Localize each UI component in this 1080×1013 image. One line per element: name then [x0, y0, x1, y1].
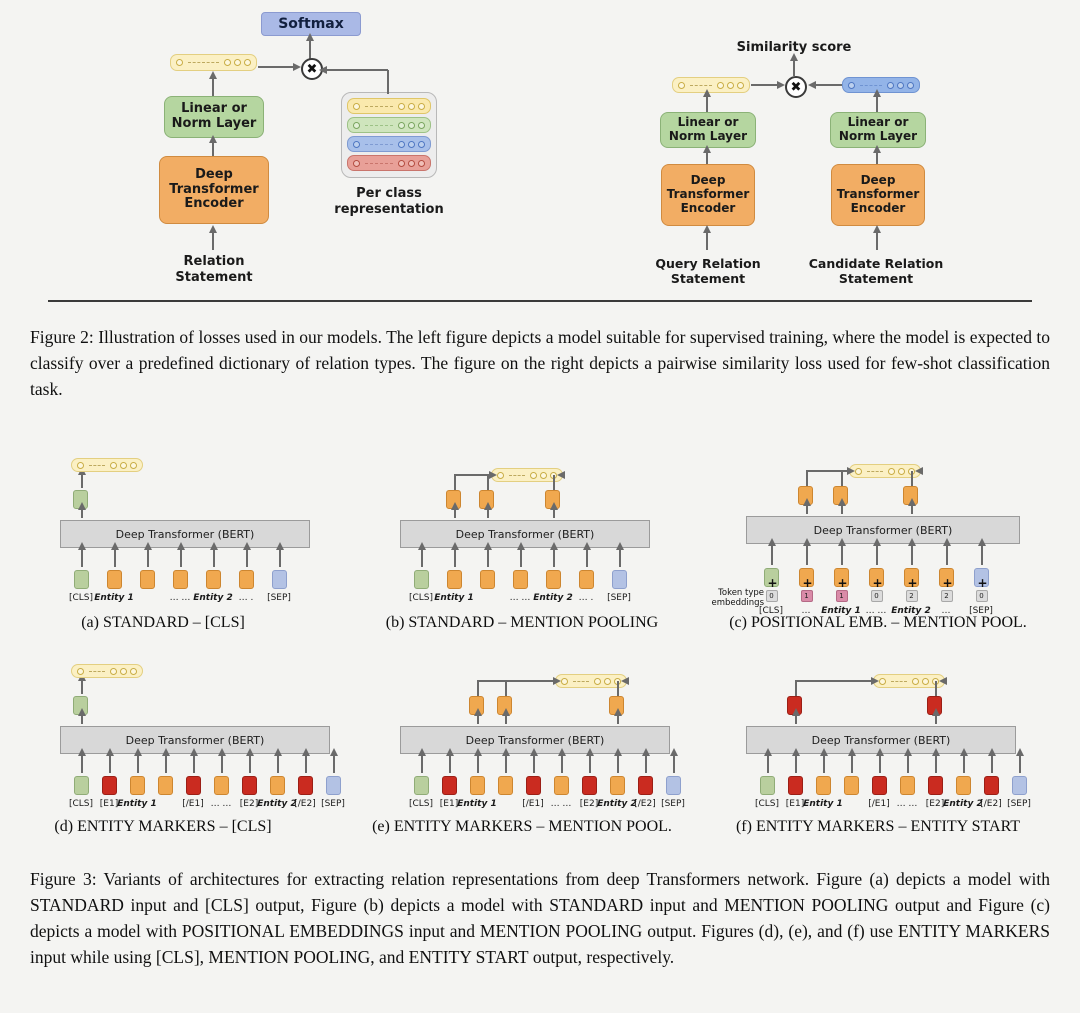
token-label: Entity 1 — [457, 799, 497, 809]
plus-icon: + — [978, 577, 988, 589]
arrow-cls-to-vector — [81, 680, 83, 694]
token-label: … … — [897, 799, 918, 809]
input-token-cls — [74, 570, 89, 589]
panel-letter: (b) — [386, 614, 409, 631]
arrow-token-to-transformer — [137, 755, 139, 773]
token-label: [SEP] — [321, 799, 345, 809]
arrow-token-to-transformer — [851, 755, 853, 773]
arrow-token-to-transformer — [907, 755, 909, 773]
candidate-relation-vector — [842, 77, 920, 93]
token-label: Entity 1 — [803, 799, 843, 809]
per-class-representation-label: Per class representation — [323, 186, 455, 217]
token-label: … … — [510, 593, 531, 603]
input-token-entity1 — [816, 776, 831, 795]
vector-ellipsis — [867, 471, 883, 472]
input-token-e2 — [298, 776, 313, 795]
token-label: [E1] — [440, 799, 458, 809]
token-type-value: 1 — [836, 590, 848, 602]
class-dot — [398, 103, 405, 110]
vector-ellipsis — [509, 475, 525, 476]
class-row-red — [347, 155, 431, 171]
encoder-label: Deep Transformer Encoder — [169, 168, 258, 213]
deep-transformer-block: Deep Transformer (BERT) — [60, 520, 310, 548]
arrow-transformer-to-output-token — [477, 715, 479, 724]
input-token-entity2 — [546, 570, 561, 589]
candidate-relation-statement-label: Candidate Relation Statement — [796, 256, 956, 286]
vector-ellipsis — [891, 681, 907, 682]
caption-text: , and — [370, 947, 408, 967]
connector-output-riser — [795, 681, 797, 696]
class-dot — [398, 141, 405, 148]
vector-cell-dot — [110, 668, 117, 675]
vector-ellipsis — [690, 85, 712, 86]
connector-output-riser-right — [935, 681, 937, 696]
arrow-query-linear-to-vector — [706, 96, 708, 112]
arrow-linear-to-vector — [212, 78, 214, 98]
connector-output-riser — [841, 471, 843, 486]
class-dot — [418, 103, 425, 110]
vector-ellipsis — [89, 671, 105, 672]
vector-cell-dot — [727, 82, 734, 89]
panel-subcaption-b: (b) STANDARD – MENTION POOLING — [372, 614, 672, 632]
relation-representation-vector — [71, 458, 143, 472]
arrow-token-to-transformer — [147, 549, 149, 567]
arrow-token-to-transformer — [619, 549, 621, 567]
input-token-cls — [760, 776, 775, 795]
deep-transformer-encoder-query: Deep Transformer Encoder — [661, 164, 755, 226]
arrow-token-to-transformer — [277, 755, 279, 773]
class-dot — [418, 160, 425, 167]
input-token-entity2 — [956, 776, 971, 795]
figure-2-rule — [48, 300, 1032, 302]
vector-cell-dot — [540, 472, 547, 479]
vector-cell-dot — [922, 678, 929, 685]
arrow-op-to-similarity — [793, 60, 795, 76]
class-row-ellipsis — [365, 106, 393, 107]
panel-variant-name: ENTITY MARKERS – MENTION POOL. — [394, 818, 672, 835]
panel-letter: (a) — [81, 614, 103, 631]
caption-text: input and [CLS] output, Figure (b) depic… — [124, 895, 549, 915]
token-label: … . — [579, 593, 594, 603]
arrow-token-to-transformer — [589, 755, 591, 773]
arrow-token-to-transformer — [449, 755, 451, 773]
input-token-e2 — [582, 776, 597, 795]
linear-norm-layer-candidate: Linear or Norm Layer — [830, 112, 926, 148]
token-label: Entity 2 — [533, 593, 573, 603]
vector-cell-dot — [737, 82, 744, 89]
connector-output-riser — [477, 681, 479, 696]
connector-output-riser — [806, 471, 808, 486]
input-token-e1 — [102, 776, 117, 795]
arrow-transformer-to-output-token — [841, 505, 843, 514]
figure-3-caption: Figure 3: Variants of architectures for … — [30, 866, 1050, 970]
input-token-entity1 — [107, 570, 122, 589]
arrow-token-to-transformer — [533, 755, 535, 773]
token-label: [CLS] — [755, 799, 779, 809]
caption-smallcaps: ENTITY START — [409, 947, 529, 967]
input-token-entity2 — [270, 776, 285, 795]
token-label: Entity 1 — [117, 799, 157, 809]
vector-cell-dot — [224, 59, 231, 66]
arrow-token-to-transformer — [645, 755, 647, 773]
vector-cell-dot — [887, 82, 894, 89]
input-token-entity2 — [610, 776, 625, 795]
class-row-ellipsis — [365, 144, 393, 145]
connector-classbox-horizontal — [327, 69, 388, 71]
arrow-token-to-transformer — [911, 545, 913, 565]
per-class-representation-box — [341, 92, 437, 178]
caption-smallcaps: MENTION POOLING — [208, 947, 370, 967]
vector-cell-dot — [120, 462, 127, 469]
vector-cell-dot — [888, 468, 895, 475]
plus-icon: + — [768, 577, 778, 589]
vector-cell-dot — [110, 462, 117, 469]
input-token-cls — [74, 776, 89, 795]
token-label: [SEP] — [607, 593, 631, 603]
input-token-tok5 — [579, 570, 594, 589]
class-dot — [408, 103, 415, 110]
paper-figure-page: Softmax ✖ Linear or Norm Layer Deep — [0, 0, 1080, 1013]
input-token-sep — [272, 570, 287, 589]
input-token-e1 — [186, 776, 201, 795]
class-row-ellipsis — [365, 163, 393, 164]
arrow-token-to-transformer — [305, 755, 307, 773]
panel-variant-name: STANDARD – MENTION POOLING — [408, 614, 658, 631]
input-token-sep — [612, 570, 627, 589]
arrow-transformer-to-cls — [81, 509, 83, 518]
figure-2-caption: Figure 2: Illustration of losses used in… — [30, 324, 1050, 402]
arrow-token-to-transformer — [487, 549, 489, 567]
caption-text: output, respectively. — [529, 947, 675, 967]
arrow-token-to-transformer — [586, 549, 588, 567]
arrow-token-to-transformer — [806, 545, 808, 565]
input-token-tok5 — [239, 570, 254, 589]
class-dot — [353, 141, 360, 148]
vector-cell-dot — [594, 678, 601, 685]
arrow-token-to-transformer — [991, 755, 993, 773]
deep-transformer-encoder-left: Deep Transformer Encoder — [159, 156, 269, 224]
arrow-transformer-to-output-token — [806, 505, 808, 514]
caption-text: Figure 3: Variants of architectures for … — [30, 869, 1050, 889]
token-label: Entity 2 — [257, 799, 297, 809]
panel-variant-name: STANDARD – [CLS] — [103, 614, 245, 631]
token-label: [E1] — [100, 799, 118, 809]
connector-query-to-operator — [751, 84, 777, 86]
input-token-tok5 — [900, 776, 915, 795]
arrow-candidate-input-to-encoder — [876, 232, 878, 250]
caption-smallcaps: MENTION POOLING — [480, 921, 642, 941]
arrow-token-to-transformer — [841, 545, 843, 565]
arrow-transformer-to-output-token — [935, 715, 937, 724]
relation-statement-input-label: Relation Statement — [152, 254, 276, 285]
class-dot — [408, 141, 415, 148]
arrow-token-to-transformer — [454, 549, 456, 567]
caption-text: input and — [404, 921, 480, 941]
arrow-token-to-transformer — [553, 549, 555, 567]
relation-representation-vector — [71, 664, 143, 678]
connector-left-group-to-pill — [806, 470, 847, 472]
class-row-yellow — [347, 98, 431, 114]
token-label: [/E2] — [980, 799, 1001, 809]
input-token-cls — [414, 570, 429, 589]
input-token-tok3 — [844, 776, 859, 795]
connector-classbox-vertical — [387, 70, 389, 94]
token-label: [/E1] — [522, 799, 543, 809]
class-dot — [353, 160, 360, 167]
vector-cell-dot — [77, 668, 84, 675]
vector-cell-dot — [561, 678, 568, 685]
panel-subcaption-e: (e) ENTITY MARKERS – MENTION POOL. — [372, 818, 672, 836]
arrow-token-to-transformer — [876, 545, 878, 565]
linear-layer-label: Linear or Norm Layer — [669, 116, 747, 144]
vector-cell-dot — [497, 472, 504, 479]
caption-smallcaps: ENTITY MARKERS — [898, 921, 1050, 941]
vector-cell-dot — [234, 59, 241, 66]
plus-icon: + — [943, 577, 953, 589]
vector-cell-dot — [898, 468, 905, 475]
encoder-label: Deep Transformer Encoder — [837, 174, 920, 215]
vector-cell-dot — [130, 668, 137, 675]
token-label: Entity 2 — [943, 799, 983, 809]
token-label: [SEP] — [1007, 799, 1031, 809]
token-label: [E2] — [926, 799, 944, 809]
arrow-token-to-transformer — [279, 549, 281, 567]
input-token-e2 — [984, 776, 999, 795]
class-dot — [418, 141, 425, 148]
arrow-token-to-transformer — [477, 755, 479, 773]
token-label: … . — [239, 593, 254, 603]
connector-left-group-to-pill — [477, 680, 553, 682]
arrow-cls-to-vector — [81, 474, 83, 488]
input-token-e1 — [788, 776, 803, 795]
panel-subcaption-d: (d) ENTITY MARKERS – [CLS] — [32, 818, 294, 836]
token-type-value: 0 — [766, 590, 778, 602]
deep-transformer-encoder-candidate: Deep Transformer Encoder — [831, 164, 925, 226]
plus-icon: + — [838, 577, 848, 589]
vector-cell-dot — [244, 59, 251, 66]
token-label: [SEP] — [267, 593, 291, 603]
arrow-token-to-transformer — [981, 545, 983, 565]
panel-letter: (c) — [729, 614, 751, 631]
vector-cell-dot — [130, 462, 137, 469]
panel-subcaption-f: (f) ENTITY MARKERS – ENTITY START — [718, 818, 1038, 836]
query-relation-vector — [672, 77, 750, 93]
token-label: Entity 2 — [193, 593, 233, 603]
class-row-green — [347, 117, 431, 133]
token-type-value: 0 — [976, 590, 988, 602]
vector-cell-dot — [912, 678, 919, 685]
caption-smallcaps: STANDARD — [30, 895, 124, 915]
token-label: … … — [170, 593, 191, 603]
vector-cell-dot — [530, 472, 537, 479]
arrow-query-input-to-encoder — [706, 232, 708, 250]
arrow-token-to-transformer — [505, 755, 507, 773]
linear-norm-layer-left: Linear or Norm Layer — [164, 96, 264, 138]
connector-output-riser-right — [911, 471, 913, 486]
caption-smallcaps: POSITIONAL EMBEDDINGS — [182, 921, 404, 941]
token-label: [/E1] — [868, 799, 889, 809]
vector-ellipsis — [573, 681, 589, 682]
arrow-token-to-transformer — [673, 755, 675, 773]
input-token-entity1 — [130, 776, 145, 795]
input-token-e1 — [442, 776, 457, 795]
input-token-tok5 — [214, 776, 229, 795]
input-token-tok3 — [158, 776, 173, 795]
input-token-tok3 — [513, 570, 528, 589]
class-dot — [353, 122, 360, 129]
vector-ellipsis — [860, 85, 882, 86]
arrow-token-to-transformer — [213, 549, 215, 567]
token-label: [/E2] — [294, 799, 315, 809]
caption-smallcaps: MENTION POOLING — [724, 895, 888, 915]
vector-ellipsis — [188, 62, 219, 63]
arrow-token-to-transformer — [520, 549, 522, 567]
class-row-ellipsis — [365, 125, 393, 126]
panel-variant-name: POSITIONAL EMB. – MENTION POOL. — [751, 614, 1027, 631]
figure-2-illustration: Softmax ✖ Linear or Norm Layer Deep — [0, 0, 1080, 300]
arrow-token-to-transformer — [771, 545, 773, 565]
vector-cell-dot — [848, 82, 855, 89]
connector-output-riser — [505, 681, 507, 696]
class-dot — [398, 122, 405, 129]
token-label: [/E2] — [634, 799, 655, 809]
class-dot — [418, 122, 425, 129]
linear-norm-layer-query: Linear or Norm Layer — [660, 112, 756, 148]
arrow-transformer-to-output-token — [505, 715, 507, 724]
connector-vector-to-operator — [258, 66, 293, 68]
class-dot — [408, 122, 415, 129]
class-row-blue — [347, 136, 431, 152]
arrow-token-to-transformer — [165, 755, 167, 773]
panel-variant-name: ENTITY MARKERS – [CLS] — [77, 818, 272, 835]
connector-candidate-to-operator — [816, 84, 842, 86]
arrow-transformer-to-output-token — [487, 509, 489, 518]
plus-icon: + — [873, 577, 883, 589]
connector-output-riser — [454, 475, 456, 490]
vector-cell-dot — [897, 82, 904, 89]
panel-subcaption-c: (c) POSITIONAL EMB. – MENTION POOL. — [718, 614, 1038, 632]
vector-cell-dot — [907, 82, 914, 89]
panel-letter: (d) — [54, 818, 77, 835]
arrow-token-to-transformer — [617, 755, 619, 773]
linear-layer-label: Linear or Norm Layer — [172, 102, 257, 132]
arrow-token-to-transformer — [221, 755, 223, 773]
panel-variant-name: ENTITY MARKERS – ENTITY START — [756, 818, 1020, 835]
arrow-transformer-to-output-token — [911, 505, 913, 514]
connector-left-group-to-pill — [795, 680, 871, 682]
vector-cell-dot — [678, 82, 685, 89]
arrow-token-to-transformer — [561, 755, 563, 773]
vector-cell-dot — [717, 82, 724, 89]
token-label: Entity 2 — [597, 799, 637, 809]
vector-cell-dot — [120, 668, 127, 675]
vector-cell-dot — [604, 678, 611, 685]
deep-transformer-block: Deep Transformer (BERT) — [400, 520, 650, 548]
plus-icon: + — [803, 577, 813, 589]
arrow-token-to-transformer — [1019, 755, 1021, 773]
caption-smallcaps: STANDARD — [549, 895, 643, 915]
token-label: [E2] — [240, 799, 258, 809]
encoder-label: Deep Transformer Encoder — [667, 174, 750, 215]
arrow-transformer-to-output-token — [617, 715, 619, 724]
token-label: [/E1] — [182, 799, 203, 809]
arrow-transformer-to-output-token — [795, 715, 797, 724]
input-token-e2 — [638, 776, 653, 795]
input-token-tok3 — [173, 570, 188, 589]
token-label: Entity 1 — [434, 593, 474, 603]
arrow-token-to-transformer — [767, 755, 769, 773]
arrow-candidate-linear-to-vector — [876, 96, 878, 112]
token-label: … … — [551, 799, 572, 809]
class-dot — [353, 103, 360, 110]
connector-output-riser-right — [553, 475, 555, 490]
token-type-value: 0 — [871, 590, 883, 602]
arrow-token-to-transformer — [81, 755, 83, 773]
vector-cell-dot — [176, 59, 183, 66]
vector-cell-dot — [879, 678, 886, 685]
token-label: [CLS] — [409, 593, 433, 603]
arrow-token-to-transformer — [180, 549, 182, 567]
plus-icon: + — [908, 577, 918, 589]
vector-cell-dot — [855, 468, 862, 475]
token-type-embeddings-label: Token typeembeddings — [706, 588, 764, 608]
token-label: [CLS] — [409, 799, 433, 809]
arrow-transformer-to-output-token — [553, 509, 555, 518]
token-type-value: 2 — [941, 590, 953, 602]
input-token-e2 — [242, 776, 257, 795]
input-token-sep — [666, 776, 681, 795]
query-relation-statement-label: Query Relation Statement — [638, 256, 778, 286]
multiply-operator-right: ✖ — [785, 76, 807, 98]
relation-representation-vector — [170, 54, 257, 71]
connector-left-group-to-pill — [454, 474, 489, 476]
arrow-transformer-to-cls — [81, 715, 83, 724]
input-token-cls — [414, 776, 429, 795]
input-token-entity2 — [206, 570, 221, 589]
input-token-e1 — [872, 776, 887, 795]
input-token-entity1 — [470, 776, 485, 795]
input-token-e1 — [526, 776, 541, 795]
arrow-token-to-transformer — [333, 755, 335, 773]
arrow-token-to-transformer — [81, 549, 83, 567]
input-token-e2 — [928, 776, 943, 795]
token-label: [E1] — [786, 799, 804, 809]
input-token-tok2 — [140, 570, 155, 589]
token-label: Entity 1 — [94, 593, 134, 603]
arrow-token-to-transformer — [421, 755, 423, 773]
arrow-token-to-transformer — [946, 545, 948, 565]
panel-letter: (f) — [736, 818, 756, 835]
arrow-transformer-to-output-token — [454, 509, 456, 518]
connector-output-riser-right — [617, 681, 619, 696]
caption-text: output. Figures (d), (e), and (f) use — [642, 921, 898, 941]
class-dot — [398, 160, 405, 167]
input-token-sep — [326, 776, 341, 795]
token-label: [SEP] — [661, 799, 685, 809]
arrow-token-to-transformer — [249, 755, 251, 773]
arrow-token-to-transformer — [935, 755, 937, 773]
input-token-sep — [1012, 776, 1027, 795]
arrow-token-to-transformer — [109, 755, 111, 773]
arrow-token-to-transformer — [823, 755, 825, 773]
token-label: [E2] — [580, 799, 598, 809]
panel-subcaption-a: (a) STANDARD – [CLS] — [32, 614, 294, 632]
vector-cell-dot — [77, 462, 84, 469]
input-token-tok3 — [498, 776, 513, 795]
token-type-value: 2 — [906, 590, 918, 602]
token-label: [CLS] — [69, 799, 93, 809]
input-token-tok2 — [480, 570, 495, 589]
